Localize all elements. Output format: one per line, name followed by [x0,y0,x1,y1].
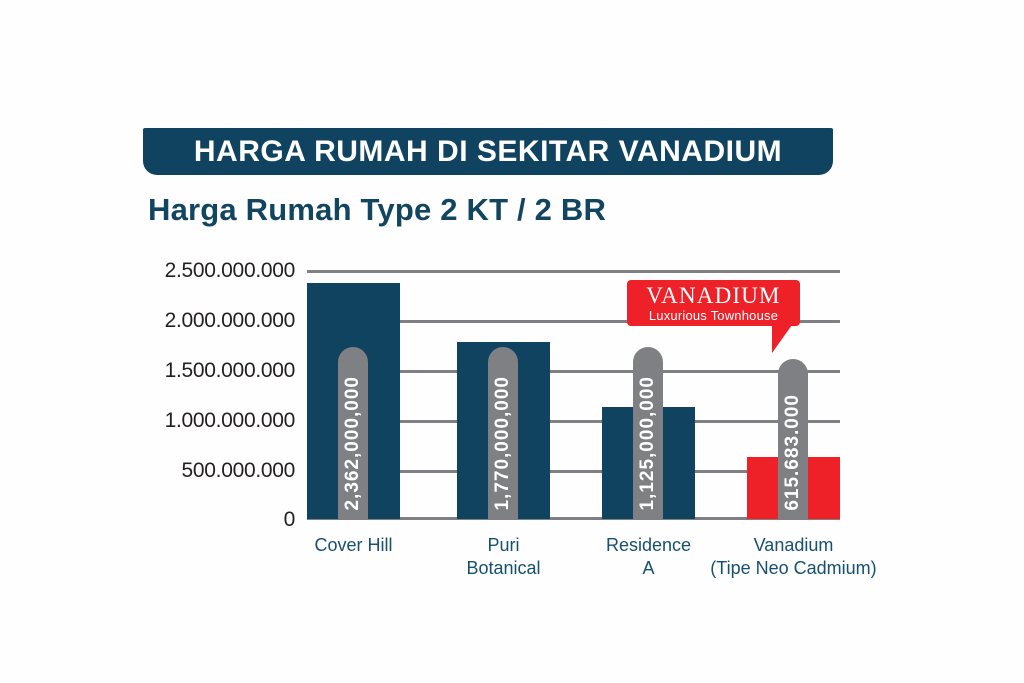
x-axis-label-vanadium-line1: Vanadium [697,534,890,557]
value-pill-vanadium: 615.683.000 [778,359,808,519]
gridline-2500000000 [307,270,840,273]
x-axis-label-vanadium: Vanadium (Tipe Neo Cadmium) [697,534,890,580]
vanadium-callout: VANADIUM Luxurious Townhouse [627,280,800,326]
value-pill-cover-hill: 2,362,000,000 [338,347,368,519]
y-axis-tick-3: 1.000.000.000 [135,409,295,433]
y-axis-tick-4: 500.000.000 [135,459,295,483]
x-axis-label-vanadium-line2: (Tipe Neo Cadmium) [697,557,890,580]
value-pill-residence-a: 1,125,000,000 [633,347,663,519]
callout-tagline-text: Luxurious Townhouse [627,308,800,323]
y-axis-tick-1: 2.000.000.000 [135,309,295,333]
bar-chart: 2.500.000.000 2.000.000.000 1.500.000.00… [0,0,1024,683]
callout-tail [772,325,792,353]
y-axis-tick-2: 1.500.000.000 [135,359,295,383]
y-axis-tick-5: 0 [135,508,295,532]
value-pill-puri-botanical: 1,770,000,000 [488,347,518,519]
value-label-cover-hill: 2,362,000,000 [338,376,368,511]
y-axis-tick-labels: 2.500.000.000 2.000.000.000 1.500.000.00… [130,270,295,519]
value-label-puri-botanical: 1,770,000,000 [488,376,518,511]
callout-brand-text: VANADIUM [627,283,800,309]
value-label-residence-a: 1,125,000,000 [633,376,663,511]
value-label-vanadium: 615.683.000 [778,394,808,511]
y-axis-tick-0: 2.500.000.000 [135,259,295,283]
